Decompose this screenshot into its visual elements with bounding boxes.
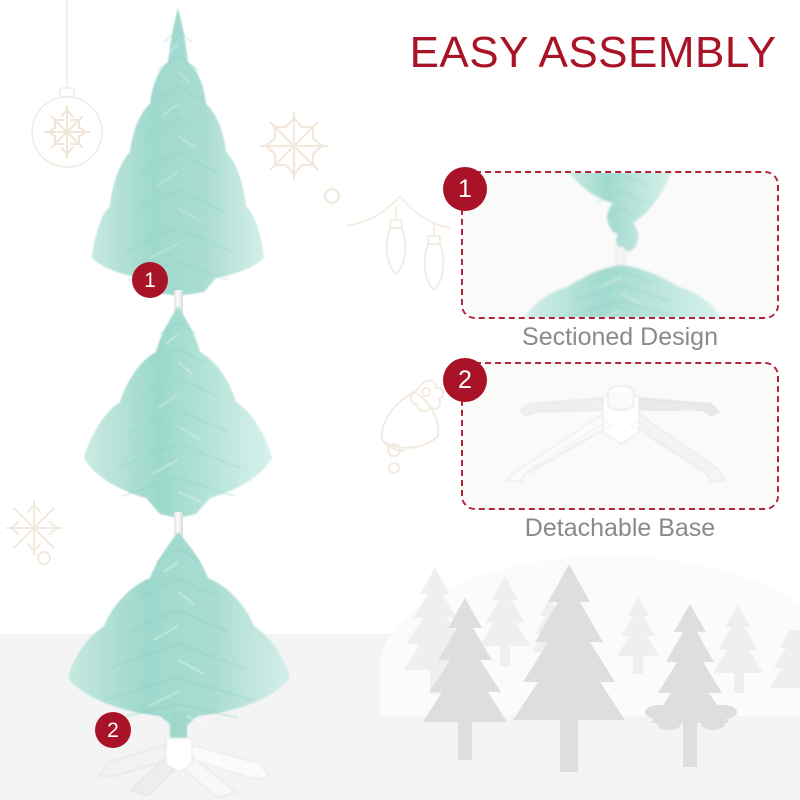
callout-badge-2[interactable]: 2 [443, 358, 487, 402]
callout-label-detachable-base: Detachable Base [455, 514, 785, 543]
product-marker-1[interactable]: 1 [132, 262, 168, 298]
callout-2-photo [463, 364, 777, 508]
callout-card-detachable-base[interactable] [461, 362, 779, 510]
product-marker-2[interactable]: 2 [95, 712, 131, 748]
callout-card-sectioned-design[interactable] [461, 171, 779, 319]
callout-label-sectioned-design: Sectioned Design [455, 323, 785, 352]
callout-badge-1[interactable]: 1 [443, 167, 487, 211]
callout-1-photo [463, 173, 777, 317]
page-title: EASY ASSEMBLY [398, 28, 788, 78]
product-infographic: 1 2 EASY ASSEMBLY [0, 0, 800, 800]
